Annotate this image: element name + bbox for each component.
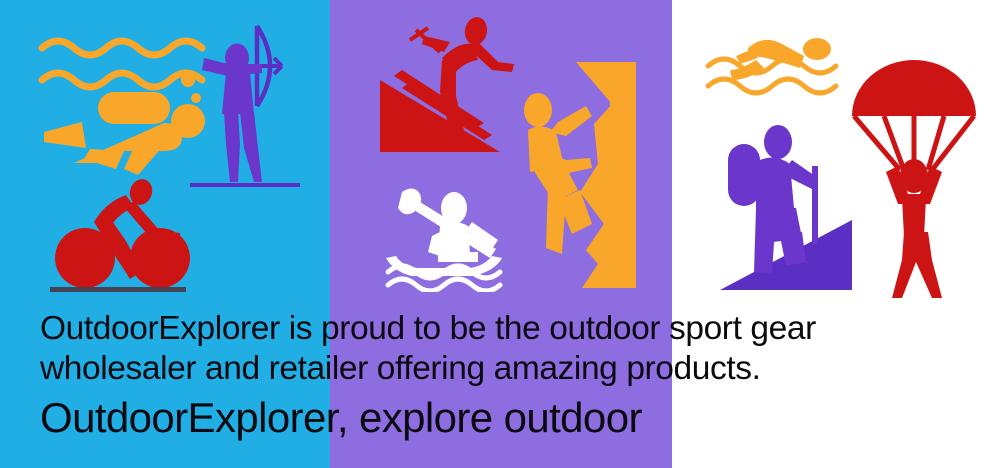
outdoor-explorer-banner: OutdoorExplorer is proud to be the outdo… [0,0,1000,468]
brand-slogan: OutdoorExplorer, explore outdoor [40,394,642,442]
tagline-text-block: OutdoorExplorer is proud to be the outdo… [0,306,1000,468]
tagline-line-1: OutdoorExplorer is proud to be the outdo… [40,310,816,348]
tagline-line-2: wholesaler and retailer offering amazing… [40,350,761,388]
